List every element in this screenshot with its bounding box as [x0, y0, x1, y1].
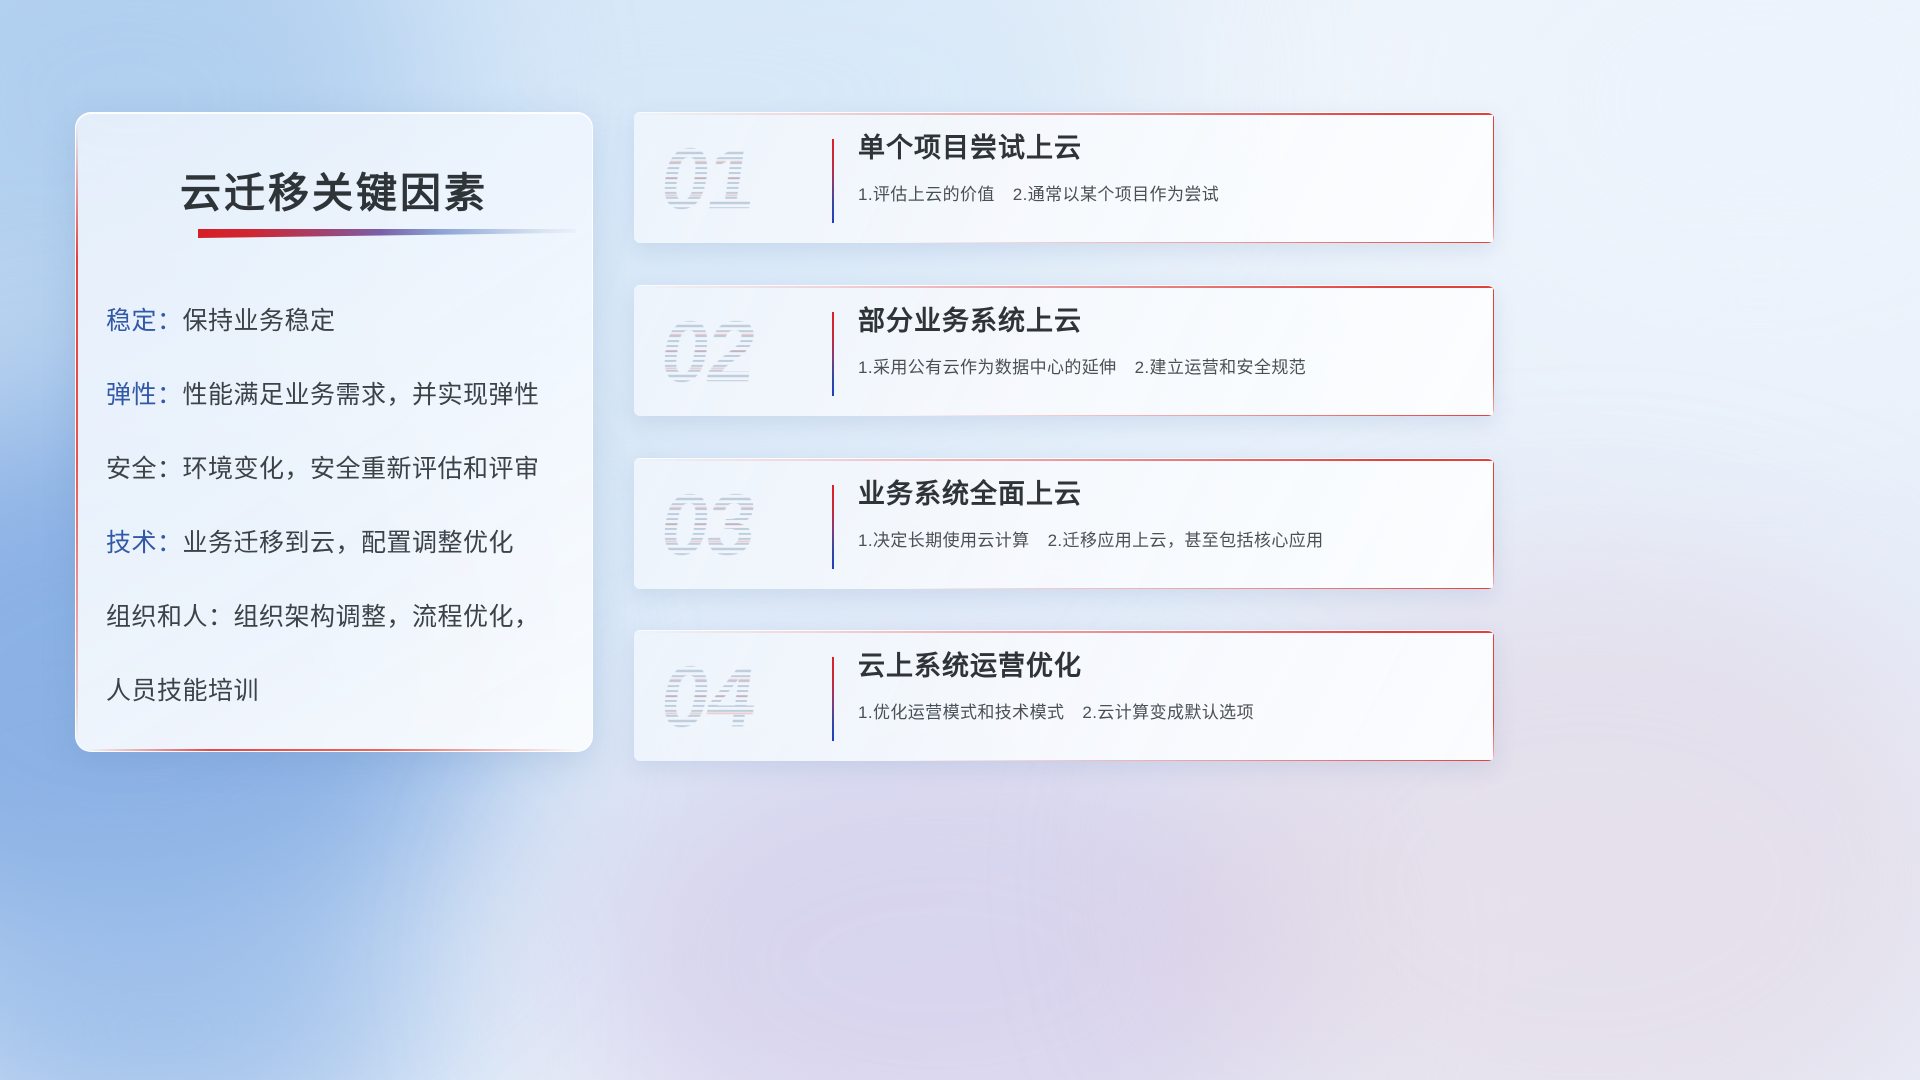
key-factor-value: 组织架构调整，流程优化，: [234, 603, 540, 631]
key-factor-value: 环境变化，安全重新评估和评审: [183, 455, 540, 483]
step-point: 1.优化运营模式和技术模式: [858, 703, 1064, 722]
step-points: 1.采用公有云作为数据中心的延伸2.建立运营和安全规范: [858, 353, 1472, 378]
step-point: 1.评估上云的价值: [858, 185, 995, 204]
card-bottom-rule: [892, 242, 1494, 244]
step-divider-icon: [832, 312, 834, 396]
step-title: 业务系统全面上云: [858, 477, 1472, 512]
key-factor-value: 性能满足业务需求，并实现弹性: [183, 381, 540, 409]
slide-stage: 云迁移关键因素 稳定：保持业务稳定弹性：性能满足业务需求，并实现弹性安全：环境变…: [0, 0, 1920, 1080]
step-point: 2.云计算变成默认选项: [1082, 703, 1254, 722]
step-point: 1.决定长期使用云计算: [858, 531, 1030, 550]
step-text-block: 部分业务系统上云1.采用公有云作为数据中心的延伸2.建立运营和安全规范: [858, 304, 1472, 378]
step-text-block: 业务系统全面上云1.决定长期使用云计算2.迁移应用上云，甚至包括核心应用: [858, 477, 1472, 551]
step-number: 01: [655, 127, 820, 231]
key-factors-panel: 云迁移关键因素 稳定：保持业务稳定弹性：性能满足业务需求，并实现弹性安全：环境变…: [75, 112, 593, 752]
step-number: 02: [655, 300, 820, 404]
step-text-block: 单个项目尝试上云1.评估上云的价值2.通常以某个项目作为尝试: [858, 131, 1472, 205]
step-title: 云上系统运营优化: [858, 649, 1472, 684]
key-factor-label: 安全：: [106, 455, 183, 483]
step-divider-icon: [832, 139, 834, 223]
key-factor-label: 稳定：: [106, 307, 183, 335]
card-bottom-rule: [892, 588, 1494, 590]
step-points: 1.评估上云的价值2.通常以某个项目作为尝试: [858, 180, 1472, 205]
step-card[interactable]: 0101单个项目尝试上云1.评估上云的价值2.通常以某个项目作为尝试: [634, 112, 1494, 243]
key-factors-list: 稳定：保持业务稳定弹性：性能满足业务需求，并实现弹性安全：环境变化，安全重新评估…: [106, 309, 568, 704]
step-card[interactable]: 0404云上系统运营优化1.优化运营模式和技术模式2.云计算变成默认选项: [634, 630, 1494, 761]
key-factor-item: 组织和人：组织架构调整，流程优化，: [106, 605, 568, 630]
step-card[interactable]: 0303业务系统全面上云1.决定长期使用云计算2.迁移应用上云，甚至包括核心应用: [634, 458, 1494, 589]
key-factor-item: 技术：业务迁移到云，配置调整优化: [106, 531, 568, 556]
key-factor-value: 业务迁移到云，配置调整优化: [183, 529, 515, 557]
step-points: 1.决定长期使用云计算2.迁移应用上云，甚至包括核心应用: [858, 526, 1472, 551]
step-card[interactable]: 0202部分业务系统上云1.采用公有云作为数据中心的延伸2.建立运营和安全规范: [634, 285, 1494, 416]
step-title: 单个项目尝试上云: [858, 131, 1472, 166]
key-factor-label: 弹性：: [106, 381, 183, 409]
step-divider-icon: [832, 485, 834, 569]
step-text-block: 云上系统运营优化1.优化运营模式和技术模式2.云计算变成默认选项: [858, 649, 1472, 723]
step-divider-icon: [832, 657, 834, 741]
key-factor-value: 人员技能培训: [106, 677, 259, 705]
key-factor-value: 保持业务稳定: [183, 307, 336, 335]
key-factor-item: 安全：环境变化，安全重新评估和评审: [106, 457, 568, 482]
title-underline-icon: [198, 229, 576, 238]
card-bottom-rule: [892, 415, 1494, 417]
key-factor-item: 人员技能培训: [106, 679, 568, 704]
step-point: 2.通常以某个项目作为尝试: [1013, 185, 1219, 204]
key-factor-item: 弹性：性能满足业务需求，并实现弹性: [106, 383, 568, 408]
panel-title: 云迁移关键因素: [76, 159, 592, 219]
key-factor-item: 稳定：保持业务稳定: [106, 309, 568, 334]
step-point: 2.建立运营和安全规范: [1135, 358, 1307, 377]
step-number: 04: [655, 645, 820, 749]
key-factor-label: 组织和人：: [106, 603, 234, 631]
card-bottom-rule: [892, 760, 1494, 762]
key-factor-label: 技术：: [106, 529, 183, 557]
step-point: 2.迁移应用上云，甚至包括核心应用: [1048, 531, 1324, 550]
step-points: 1.优化运营模式和技术模式2.云计算变成默认选项: [858, 698, 1472, 723]
step-title: 部分业务系统上云: [858, 304, 1472, 339]
step-point: 1.采用公有云作为数据中心的延伸: [858, 358, 1117, 377]
step-number: 03: [655, 473, 820, 577]
